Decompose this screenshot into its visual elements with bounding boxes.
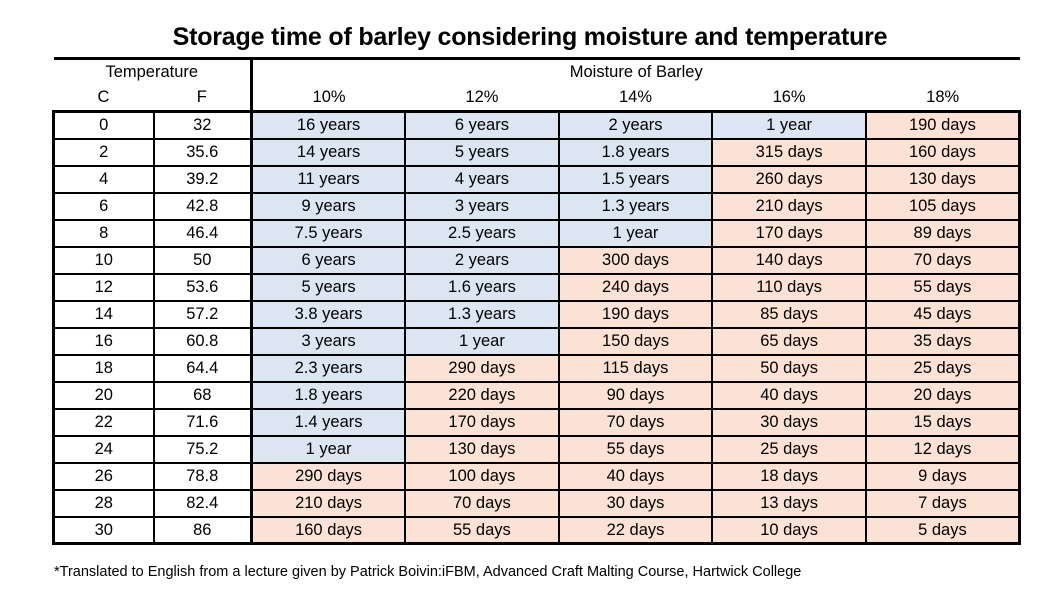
table-row: 2475.21 year130 days55 days25 days12 day… bbox=[54, 436, 1020, 463]
cell-storage-time: 45 days bbox=[866, 301, 1020, 328]
cell-storage-time: 10 days bbox=[712, 517, 866, 544]
cell-storage-time: 130 days bbox=[405, 436, 559, 463]
cell-fahrenheit: 68 bbox=[154, 382, 252, 409]
cell-storage-time: 1.5 years bbox=[559, 166, 713, 193]
cell-storage-time: 210 days bbox=[712, 193, 866, 220]
cell-storage-time: 70 days bbox=[405, 490, 559, 517]
cell-storage-time: 260 days bbox=[712, 166, 866, 193]
header-moisture-16: 16% bbox=[712, 85, 866, 112]
cell-storage-time: 2.5 years bbox=[405, 220, 559, 247]
cell-celsius: 6 bbox=[54, 193, 154, 220]
table-row: 846.47.5 years2.5 years1 year170 days89 … bbox=[54, 220, 1020, 247]
cell-storage-time: 1.4 years bbox=[252, 409, 406, 436]
cell-storage-time: 5 years bbox=[405, 139, 559, 166]
cell-storage-time: 6 years bbox=[405, 112, 559, 139]
cell-storage-time: 170 days bbox=[712, 220, 866, 247]
cell-storage-time: 300 days bbox=[559, 247, 713, 274]
cell-storage-time: 1.6 years bbox=[405, 274, 559, 301]
cell-storage-time: 190 days bbox=[866, 112, 1020, 139]
cell-storage-time: 7 days bbox=[866, 490, 1020, 517]
cell-celsius: 24 bbox=[54, 436, 154, 463]
storage-time-table: Temperature Moisture of Barley C F 10% 1… bbox=[52, 57, 1021, 545]
cell-celsius: 14 bbox=[54, 301, 154, 328]
table-row: 642.89 years3 years1.3 years210 days105 … bbox=[54, 193, 1020, 220]
cell-storage-time: 40 days bbox=[712, 382, 866, 409]
cell-celsius: 12 bbox=[54, 274, 154, 301]
cell-celsius: 30 bbox=[54, 517, 154, 544]
cell-storage-time: 55 days bbox=[405, 517, 559, 544]
header-group-row: Temperature Moisture of Barley bbox=[54, 59, 1020, 85]
table-row: 439.211 years4 years1.5 years260 days130… bbox=[54, 166, 1020, 193]
cell-storage-time: 5 years bbox=[252, 274, 406, 301]
cell-fahrenheit: 71.6 bbox=[154, 409, 252, 436]
cell-celsius: 0 bbox=[54, 112, 154, 139]
cell-storage-time: 12 days bbox=[866, 436, 1020, 463]
cell-storage-time: 25 days bbox=[712, 436, 866, 463]
cell-fahrenheit: 64.4 bbox=[154, 355, 252, 382]
cell-storage-time: 2 years bbox=[405, 247, 559, 274]
cell-storage-time: 315 days bbox=[712, 139, 866, 166]
cell-storage-time: 50 days bbox=[712, 355, 866, 382]
cell-storage-time: 170 days bbox=[405, 409, 559, 436]
cell-storage-time: 290 days bbox=[405, 355, 559, 382]
table-header: Temperature Moisture of Barley C F 10% 1… bbox=[54, 59, 1020, 112]
cell-storage-time: 190 days bbox=[559, 301, 713, 328]
cell-storage-time: 290 days bbox=[252, 463, 406, 490]
cell-storage-time: 160 days bbox=[866, 139, 1020, 166]
table-row: 20681.8 years220 days90 days40 days20 da… bbox=[54, 382, 1020, 409]
cell-storage-time: 55 days bbox=[559, 436, 713, 463]
cell-storage-time: 115 days bbox=[559, 355, 713, 382]
cell-fahrenheit: 35.6 bbox=[154, 139, 252, 166]
cell-storage-time: 1.3 years bbox=[559, 193, 713, 220]
cell-storage-time: 1 year bbox=[405, 328, 559, 355]
header-moisture-group: Moisture of Barley bbox=[252, 59, 1020, 85]
cell-storage-time: 2 years bbox=[559, 112, 713, 139]
cell-fahrenheit: 53.6 bbox=[154, 274, 252, 301]
cell-storage-time: 18 days bbox=[712, 463, 866, 490]
header-column-row: C F 10% 12% 14% 16% 18% bbox=[54, 85, 1020, 112]
table-row: 235.614 years5 years1.8 years315 days160… bbox=[54, 139, 1020, 166]
table-row: 3086160 days55 days22 days10 days5 days bbox=[54, 517, 1020, 544]
table-row: 1457.23.8 years1.3 years190 days85 days4… bbox=[54, 301, 1020, 328]
table-row: 1253.65 years1.6 years240 days110 days55… bbox=[54, 274, 1020, 301]
cell-storage-time: 70 days bbox=[866, 247, 1020, 274]
cell-fahrenheit: 86 bbox=[154, 517, 252, 544]
cell-celsius: 10 bbox=[54, 247, 154, 274]
cell-storage-time: 30 days bbox=[712, 409, 866, 436]
header-moisture-18: 18% bbox=[866, 85, 1020, 112]
cell-storage-time: 110 days bbox=[712, 274, 866, 301]
cell-storage-time: 89 days bbox=[866, 220, 1020, 247]
cell-storage-time: 220 days bbox=[405, 382, 559, 409]
header-moisture-12: 12% bbox=[405, 85, 559, 112]
cell-storage-time: 90 days bbox=[559, 382, 713, 409]
cell-storage-time: 5 days bbox=[866, 517, 1020, 544]
cell-storage-time: 4 years bbox=[405, 166, 559, 193]
cell-storage-time: 30 days bbox=[559, 490, 713, 517]
cell-storage-time: 65 days bbox=[712, 328, 866, 355]
cell-storage-time: 1 year bbox=[559, 220, 713, 247]
footnote: *Translated to English from a lecture gi… bbox=[54, 563, 801, 581]
table-row: 1864.42.3 years290 days115 days50 days25… bbox=[54, 355, 1020, 382]
cell-storage-time: 240 days bbox=[559, 274, 713, 301]
cell-fahrenheit: 78.8 bbox=[154, 463, 252, 490]
cell-storage-time: 3.8 years bbox=[252, 301, 406, 328]
cell-storage-time: 85 days bbox=[712, 301, 866, 328]
table-row: 2271.61.4 years170 days70 days30 days15 … bbox=[54, 409, 1020, 436]
table-body: 03216 years6 years2 years1 year190 days2… bbox=[54, 112, 1020, 544]
cell-storage-time: 9 days bbox=[866, 463, 1020, 490]
cell-storage-time: 55 days bbox=[866, 274, 1020, 301]
cell-celsius: 16 bbox=[54, 328, 154, 355]
cell-storage-time: 160 days bbox=[252, 517, 406, 544]
cell-fahrenheit: 57.2 bbox=[154, 301, 252, 328]
cell-celsius: 26 bbox=[54, 463, 154, 490]
cell-fahrenheit: 39.2 bbox=[154, 166, 252, 193]
cell-celsius: 22 bbox=[54, 409, 154, 436]
cell-fahrenheit: 32 bbox=[154, 112, 252, 139]
cell-storage-time: 16 years bbox=[252, 112, 406, 139]
cell-storage-time: 15 days bbox=[866, 409, 1020, 436]
cell-fahrenheit: 82.4 bbox=[154, 490, 252, 517]
cell-storage-time: 13 days bbox=[712, 490, 866, 517]
cell-fahrenheit: 42.8 bbox=[154, 193, 252, 220]
cell-celsius: 18 bbox=[54, 355, 154, 382]
cell-storage-time: 210 days bbox=[252, 490, 406, 517]
cell-storage-time: 3 years bbox=[252, 328, 406, 355]
header-fahrenheit: F bbox=[154, 85, 252, 112]
cell-storage-time: 140 days bbox=[712, 247, 866, 274]
cell-storage-time: 25 days bbox=[866, 355, 1020, 382]
header-temperature-group: Temperature bbox=[54, 59, 252, 85]
page-title: Storage time of barley considering moist… bbox=[0, 22, 1060, 52]
cell-fahrenheit: 60.8 bbox=[154, 328, 252, 355]
table-row: 1660.83 years1 year150 days65 days35 day… bbox=[54, 328, 1020, 355]
storage-time-table-container: Temperature Moisture of Barley C F 10% 1… bbox=[52, 57, 1018, 545]
cell-storage-time: 7.5 years bbox=[252, 220, 406, 247]
cell-storage-time: 1 year bbox=[712, 112, 866, 139]
table-row: 2882.4210 days70 days30 days13 days7 day… bbox=[54, 490, 1020, 517]
table-row: 10506 years2 years300 days140 days70 day… bbox=[54, 247, 1020, 274]
cell-storage-time: 6 years bbox=[252, 247, 406, 274]
cell-storage-time: 1.8 years bbox=[559, 139, 713, 166]
cell-storage-time: 20 days bbox=[866, 382, 1020, 409]
header-moisture-14: 14% bbox=[559, 85, 713, 112]
cell-celsius: 4 bbox=[54, 166, 154, 193]
cell-storage-time: 1 year bbox=[252, 436, 406, 463]
cell-storage-time: 11 years bbox=[252, 166, 406, 193]
header-moisture-10: 10% bbox=[252, 85, 406, 112]
cell-storage-time: 105 days bbox=[866, 193, 1020, 220]
table-figure: Storage time of barley considering moist… bbox=[0, 0, 1060, 600]
cell-fahrenheit: 46.4 bbox=[154, 220, 252, 247]
table-row: 2678.8290 days100 days40 days18 days9 da… bbox=[54, 463, 1020, 490]
cell-storage-time: 14 years bbox=[252, 139, 406, 166]
cell-storage-time: 9 years bbox=[252, 193, 406, 220]
table-row: 03216 years6 years2 years1 year190 days bbox=[54, 112, 1020, 139]
cell-storage-time: 70 days bbox=[559, 409, 713, 436]
cell-storage-time: 35 days bbox=[866, 328, 1020, 355]
cell-celsius: 8 bbox=[54, 220, 154, 247]
cell-storage-time: 3 years bbox=[405, 193, 559, 220]
cell-storage-time: 100 days bbox=[405, 463, 559, 490]
cell-storage-time: 130 days bbox=[866, 166, 1020, 193]
cell-celsius: 2 bbox=[54, 139, 154, 166]
cell-storage-time: 1.3 years bbox=[405, 301, 559, 328]
cell-fahrenheit: 75.2 bbox=[154, 436, 252, 463]
header-celsius: C bbox=[54, 85, 154, 112]
cell-fahrenheit: 50 bbox=[154, 247, 252, 274]
cell-storage-time: 2.3 years bbox=[252, 355, 406, 382]
cell-storage-time: 1.8 years bbox=[252, 382, 406, 409]
cell-storage-time: 150 days bbox=[559, 328, 713, 355]
cell-celsius: 28 bbox=[54, 490, 154, 517]
cell-storage-time: 22 days bbox=[559, 517, 713, 544]
cell-storage-time: 40 days bbox=[559, 463, 713, 490]
cell-celsius: 20 bbox=[54, 382, 154, 409]
